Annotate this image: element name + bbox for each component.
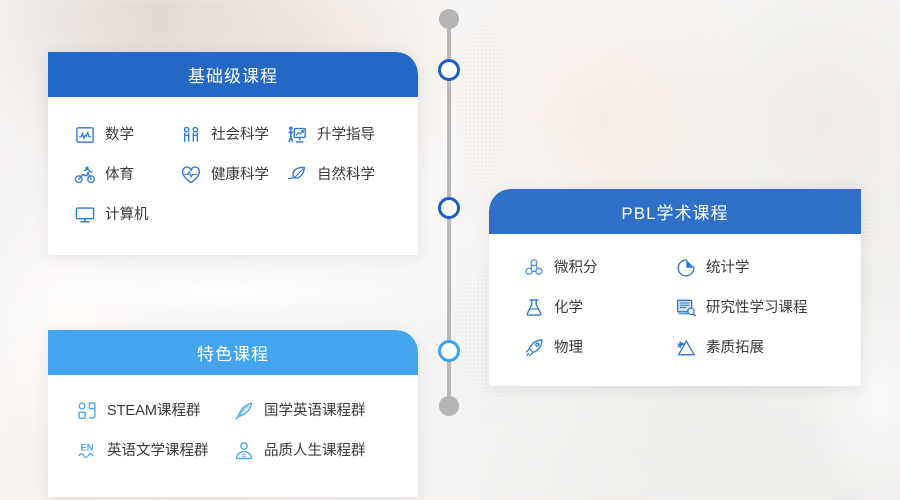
course-item-research-study[interactable]: 研究性学习课程 (675, 288, 827, 328)
course-item-english-literature[interactable]: EN 英语文学课程群 (76, 431, 233, 471)
course-item-label: STEAM课程群 (107, 404, 200, 419)
course-item-label: 化学 (554, 301, 583, 316)
background-light-streak-2 (0, 282, 460, 304)
course-item-statistics[interactable]: 统计学 (675, 248, 827, 288)
course-overview-page: 基础级课程 数学 (0, 0, 900, 500)
course-item-steam[interactable]: STEAM课程群 (76, 391, 233, 431)
course-item-calculus[interactable]: 微积分 (523, 248, 675, 288)
steam-blocks-icon (76, 400, 98, 422)
course-item-label: 统计学 (706, 261, 750, 276)
math-chart-icon (74, 124, 96, 146)
heart-pulse-icon (180, 164, 202, 186)
course-item-natural-science[interactable]: 自然科学 (286, 155, 392, 195)
course-item-chemistry[interactable]: 化学 (523, 288, 675, 328)
course-item-quality-expansion[interactable]: 素质拓展 (675, 328, 827, 368)
course-item-label: 社会科学 (211, 128, 269, 143)
course-item-label: 计算机 (105, 208, 149, 223)
card-title-basic: 基础级课程 (48, 52, 418, 97)
course-item-label: 研究性学习课程 (706, 301, 808, 316)
course-item-chinese-english[interactable]: 国学英语课程群 (233, 391, 390, 431)
card-items-pbl: 微积分 统计学 化 (489, 234, 861, 386)
course-item-label: 国学英语课程群 (264, 404, 366, 419)
pie-chart-statistics-icon (675, 257, 697, 279)
course-item-quality-life[interactable]: 品质人生课程群 (233, 431, 390, 471)
molecule-calculus-icon (523, 257, 545, 279)
rocket-physics-icon (523, 337, 545, 359)
course-item-social-science[interactable]: 社会科学 (180, 115, 286, 155)
course-item-label: 体育 (105, 168, 134, 183)
monitor-computer-icon (74, 204, 96, 226)
quill-pen-icon (233, 400, 255, 422)
course-item-admission-guidance[interactable]: 升学指导 (286, 115, 392, 155)
course-card-basic: 基础级课程 数学 (48, 52, 418, 255)
course-item-label: 微积分 (554, 261, 598, 276)
course-item-label: 素质拓展 (706, 341, 764, 356)
course-item-health-science[interactable]: 健康科学 (180, 155, 286, 195)
en-letters-icon: EN (76, 440, 98, 462)
course-item-math[interactable]: 数学 (74, 115, 180, 155)
mountain-flag-icon (675, 337, 697, 359)
book-search-research-icon (675, 297, 697, 319)
course-card-pbl: PBL学术课程 微积分 (489, 189, 861, 386)
person-badge-icon (233, 440, 255, 462)
card-items-featured: STEAM课程群 国学英语课程群 EN (48, 375, 418, 497)
course-item-label: 升学指导 (317, 128, 375, 143)
course-card-featured: 特色课程 STEAM课程群 (48, 330, 418, 497)
course-item-label: 自然科学 (317, 168, 375, 183)
course-item-label: 英语文学课程群 (107, 444, 209, 459)
leaf-nature-icon (286, 164, 308, 186)
course-item-physical-education[interactable]: 体育 (74, 155, 180, 195)
course-item-physics[interactable]: 物理 (523, 328, 675, 368)
bicycle-sport-icon (74, 164, 96, 186)
card-items-basic: 数学 社会科学 (48, 97, 418, 255)
flask-chemistry-icon (523, 297, 545, 319)
course-item-label: 物理 (554, 341, 583, 356)
card-title-pbl: PBL学术课程 (489, 189, 861, 234)
course-item-computer[interactable]: 计算机 (74, 195, 180, 235)
course-item-label: 品质人生课程群 (264, 444, 366, 459)
social-science-people-icon (180, 124, 202, 146)
course-item-label: 健康科学 (211, 168, 269, 183)
course-item-label: 数学 (105, 128, 134, 143)
presentation-person-icon (286, 124, 308, 146)
card-title-featured: 特色课程 (48, 330, 418, 375)
svg-text:EN: EN (81, 443, 94, 453)
